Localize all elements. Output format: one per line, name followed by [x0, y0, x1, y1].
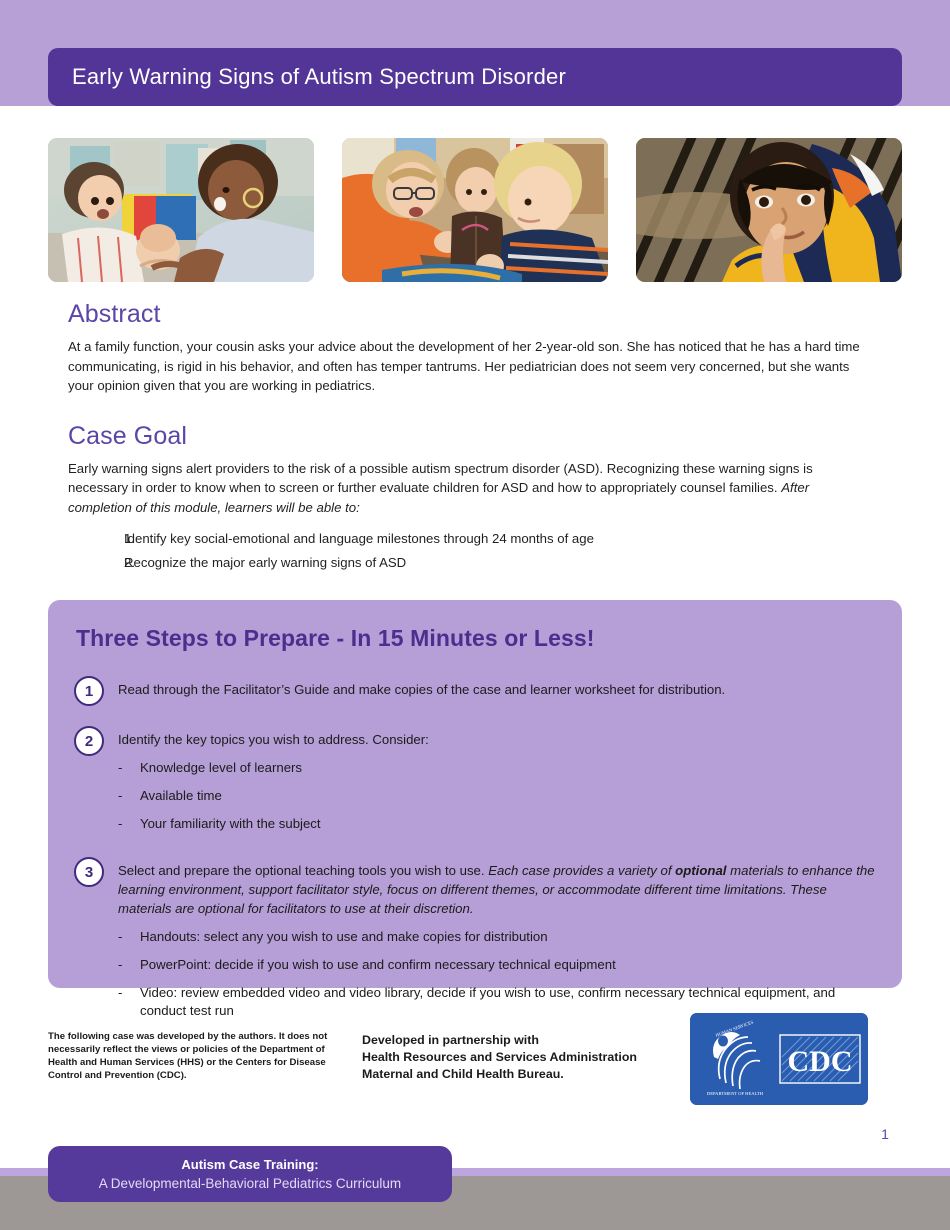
document-page: Early Warning Signs of Autism Spectrum D…: [0, 0, 950, 1230]
case-goal-plain: Early warning signs alert providers to t…: [68, 461, 813, 496]
prepare-step-3: 3 Select and prepare the optional teachi…: [74, 859, 876, 1020]
step-content: Select and prepare the optional teaching…: [118, 859, 876, 1020]
case-goal-heading: Case Goal: [68, 422, 874, 451]
step-3-bullets: - Handouts: select any you wish to use a…: [118, 928, 876, 1020]
list-item: 1. Identify key social-emotional and lan…: [68, 531, 874, 546]
objectives-list: 1. Identify key social-emotional and lan…: [68, 531, 874, 570]
step-content: Read through the Facilitator’s Guide and…: [118, 678, 876, 699]
step-content: Identify the key topics you wish to addr…: [118, 728, 876, 833]
article-body: Abstract At a family function, your cous…: [68, 300, 874, 579]
objective-text: Recognize the major early warning signs …: [124, 555, 874, 570]
hhs-cdc-logo: HUMAN SERVICES DEPARTMENT OF HEALTH CDC: [690, 1013, 868, 1105]
photo-strip: [48, 138, 902, 282]
photo-teacher-two-children-book: [342, 138, 608, 282]
list-item: - PowerPoint: decide if you wish to use …: [118, 956, 876, 974]
disclaimer-text: The following case was developed by the …: [48, 1030, 348, 1082]
step-number-badge: 1: [74, 676, 104, 706]
step3-plain: Select and prepare the optional teaching…: [118, 863, 485, 878]
bullet-text: Handouts: select any you wish to use and…: [140, 928, 876, 946]
step-number-badge: 2: [74, 726, 104, 756]
list-item: - Available time: [118, 787, 876, 805]
curriculum-tag: Autism Case Training: A Developmental-Be…: [48, 1146, 452, 1202]
list-item: 2. Recognize the major early warning sig…: [68, 555, 874, 570]
dash-bullet: -: [118, 984, 140, 1020]
dash-bullet: -: [118, 956, 140, 974]
cdc-wordmark: CDC: [788, 1045, 853, 1078]
photo-clinician-toddler-doll: [48, 138, 314, 282]
prepare-step-1: 1 Read through the Facilitator’s Guide a…: [74, 678, 876, 706]
objective-number: 1.: [68, 531, 124, 546]
dash-bullet: -: [118, 759, 140, 777]
step-number-badge: 3: [74, 857, 104, 887]
svg-text:DEPARTMENT OF HEALTH: DEPARTMENT OF HEALTH: [707, 1091, 764, 1096]
list-item: - Knowledge level of learners: [118, 759, 876, 777]
step-2-bullets: - Knowledge level of learners - Availabl…: [118, 759, 876, 833]
page-header-bar: Early Warning Signs of Autism Spectrum D…: [48, 48, 902, 106]
page-title: Early Warning Signs of Autism Spectrum D…: [48, 64, 566, 90]
partnership-text: Developed in partnership with Health Res…: [362, 1032, 682, 1083]
list-item: - Handouts: select any you wish to use a…: [118, 928, 876, 946]
curriculum-tag-title: Autism Case Training:: [181, 1156, 318, 1174]
step-lead-text: Read through the Facilitator’s Guide and…: [118, 680, 876, 699]
step-lead-text: Select and prepare the optional teaching…: [118, 861, 876, 918]
step3-italic-bold: optional: [675, 863, 726, 878]
step3-italic-a: Each case provides a variety of: [488, 863, 671, 878]
three-steps-box: Three Steps to Prepare - In 15 Minutes o…: [48, 600, 902, 988]
bullet-text: Available time: [140, 787, 876, 805]
step-lead-text: Identify the key topics you wish to addr…: [118, 730, 876, 749]
case-goal-section: Case Goal Early warning signs alert prov…: [68, 422, 874, 571]
partnership-line-1: Developed in partnership with: [362, 1032, 682, 1049]
bullet-text: Your familiarity with the subject: [140, 815, 876, 833]
objective-text: Identify key social-emotional and langua…: [124, 531, 874, 546]
bullet-text: Knowledge level of learners: [140, 759, 876, 777]
dash-bullet: -: [118, 787, 140, 805]
dash-bullet: -: [118, 815, 140, 833]
dash-bullet: -: [118, 928, 140, 946]
list-item: - Your familiarity with the subject: [118, 815, 876, 833]
prepare-step-2: 2 Identify the key topics you wish to ad…: [74, 728, 876, 833]
abstract-section: Abstract At a family function, your cous…: [68, 300, 874, 396]
abstract-heading: Abstract: [68, 300, 874, 329]
objective-number: 2.: [68, 555, 124, 570]
partnership-line-3: Maternal and Child Health Bureau.: [362, 1066, 682, 1083]
case-goal-text: Early warning signs alert providers to t…: [68, 459, 874, 518]
photo-boy-finger-to-nose: [636, 138, 902, 282]
three-steps-title: Three Steps to Prepare - In 15 Minutes o…: [76, 625, 876, 652]
bullet-text: PowerPoint: decide if you wish to use an…: [140, 956, 876, 974]
curriculum-tag-subtitle: A Developmental-Behavioral Pediatrics Cu…: [99, 1174, 401, 1193]
partnership-line-2: Health Resources and Services Administra…: [362, 1049, 682, 1066]
abstract-text: At a family function, your cousin asks y…: [68, 337, 874, 396]
page-number: 1: [870, 1126, 900, 1142]
